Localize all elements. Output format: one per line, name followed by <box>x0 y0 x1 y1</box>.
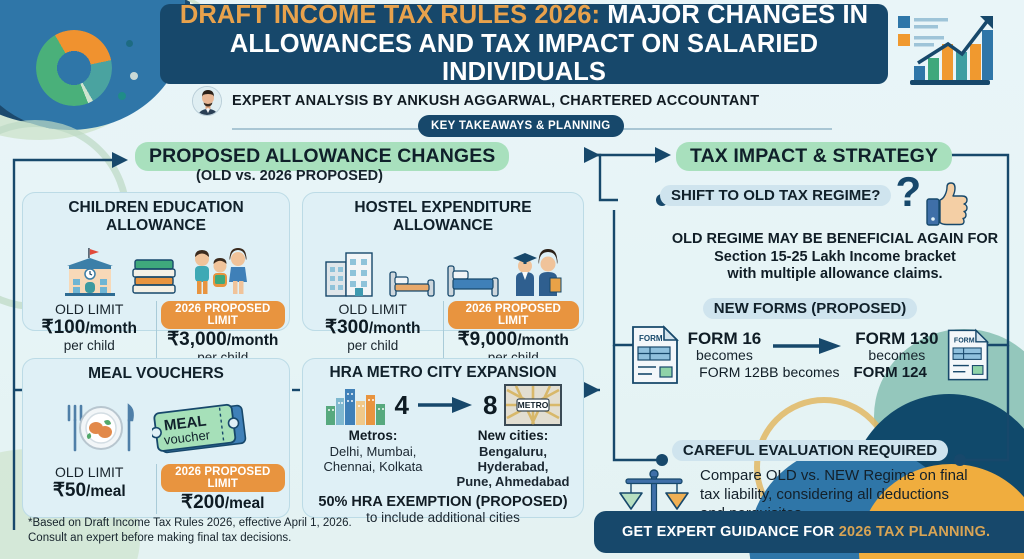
form-12bb-line: FORM 12BB becomes <box>699 364 839 381</box>
old-amount-unit: /month <box>85 320 137 337</box>
cta-prefix: GET EXPERT GUIDANCE FOR <box>622 524 839 540</box>
hra-old-metros: Metros: Delhi, Mumbai, Chennai, Kolkata <box>303 427 443 490</box>
footnote-line-1: *Based on Draft Income Tax Rules 2026, e… <box>28 516 352 532</box>
card-title: HOSTEL EXPENDITURE ALLOWANCE <box>303 193 583 235</box>
form-130-becomes: becomes <box>855 348 938 364</box>
form-new-col: FORM 130 becomes <box>855 329 938 364</box>
form-document-icon-left: FORM <box>630 325 680 385</box>
form-124-label: FORM 124 <box>853 364 926 381</box>
donut-chart-logo-icon <box>36 30 112 106</box>
meal-plate-icon <box>60 398 142 458</box>
old-limit-amount: ₹300/month <box>307 318 439 339</box>
form-12bb-label: FORM 12BB <box>699 364 778 380</box>
old-limit-amount: ₹50/meal <box>27 481 152 502</box>
page-title: DRAFT INCOME TAX RULES 2026: MAJOR CHANG… <box>174 1 874 87</box>
city-skyline-icon <box>324 384 388 426</box>
meal-voucher-icon: MEAL voucher <box>152 400 252 458</box>
decor-blob-blue-topleft <box>0 0 185 130</box>
page-title-highlight: DRAFT INCOME TAX RULES 2026: <box>180 1 600 29</box>
proposed-allowance-subtitle: (OLD vs. 2026 PROPOSED) <box>196 168 383 184</box>
double-bed-icon <box>446 260 500 298</box>
block-shift-to-old-tax-regime: SHIFT TO OLD TAX REGIME? ? OLD REGIME MA… <box>660 185 1010 284</box>
proposed-limit-badge: 2026 PROPOSED LIMIT <box>161 301 286 329</box>
hra-new-cities: Bengaluru, Hyderabad, Pune, Ahmedabad <box>443 445 583 490</box>
byline: EXPERT ANALYSIS BY ANKUSH AGGARWAL, CHAR… <box>192 86 832 116</box>
key-takeaways-pill: KEY TAKEAWAYS & PLANNING <box>418 115 624 137</box>
hra-new-label: New cities: <box>478 428 549 443</box>
shift-line-1: OLD REGIME MAY BE BENEFICIAL AGAIN FOR <box>660 231 1010 249</box>
hra-new-cities-block: New cities: Bengaluru, Hyderabad, Pune, … <box>443 427 583 490</box>
card-children-education-allowance: CHILDREN EDUCATION ALLOWANCE <box>22 192 290 331</box>
card-title: HRA METRO CITY EXPANSION <box>303 359 583 382</box>
form-doc-label: FORM <box>954 338 975 345</box>
cta-text: GET EXPERT GUIDANCE FOR 2026 TAX PLANNIN… <box>622 524 990 540</box>
hra-from-count: 4 <box>395 390 409 421</box>
decor-blob-mint-topleft <box>0 0 160 140</box>
metro-tag-label: METRO <box>518 400 549 410</box>
new-amount-value: ₹200 <box>181 492 225 513</box>
shift-header: SHIFT TO OLD TAX REGIME? <box>660 185 891 206</box>
new-limit-amount: ₹9,000/month <box>448 330 580 351</box>
tax-impact-section-header: TAX IMPACT & STRATEGY <box>676 142 952 171</box>
form-130-label: FORM 130 <box>855 329 938 348</box>
eval-header-row: CAREFUL EVALUATION REQUIRED <box>600 440 1020 461</box>
arrow-right-icon <box>771 336 845 356</box>
proposed-allowance-title: PROPOSED ALLOWANCE CHANGES <box>135 142 509 171</box>
form-12bb-becomes: becomes <box>783 364 840 380</box>
new-limit-amount: ₹200/meal <box>161 493 286 514</box>
card-limits: OLD LIMIT ₹50/meal 2026 PROPOSED LIMIT ₹… <box>23 464 289 514</box>
forms-content: FORM FORM 16 becomes <box>600 325 1020 385</box>
new-limit-block: 2026 PROPOSED LIMIT ₹200/meal <box>157 464 290 514</box>
new-forms-header: NEW FORMS (PROPOSED) <box>703 298 918 319</box>
page-title-bar: DRAFT INCOME TAX RULES 2026: MAJOR CHANG… <box>160 4 888 84</box>
form-old-col: FORM 16 becomes <box>688 329 762 364</box>
form-document-icon-right: FORM <box>946 328 990 382</box>
thumbs-up-icon <box>925 181 969 227</box>
growth-bar-chart-icon <box>892 6 1008 98</box>
question-mark-icon: ? <box>895 177 921 207</box>
new-limit-amount: ₹3,000/month <box>161 330 286 351</box>
form-16-label: FORM 16 <box>688 329 762 348</box>
old-amount-value: ₹50 <box>53 480 86 501</box>
shift-header-row: SHIFT TO OLD TAX REGIME? ? <box>660 185 1010 227</box>
form-doc-label: FORM <box>639 334 663 343</box>
old-amount-value: ₹100 <box>42 317 86 338</box>
card-icons: MEAL voucher <box>23 386 289 458</box>
proposed-limit-badge: 2026 PROPOSED LIMIT <box>161 464 286 492</box>
old-limit-label: OLD LIMIT <box>27 464 152 480</box>
single-bed-icon <box>388 264 436 298</box>
hra-old-label: Metros: <box>349 428 398 443</box>
new-amount-unit: /meal <box>225 495 265 512</box>
block-new-forms-proposed: NEW FORMS (PROPOSED) FORM FORM 16 become… <box>600 298 1020 385</box>
hra-to-count: 8 <box>483 390 497 421</box>
card-title: CHILDREN EDUCATION ALLOWANCE <box>23 193 289 235</box>
arrow-right-icon <box>416 394 476 416</box>
byline-text: EXPERT ANALYSIS BY ANKUSH AGGARWAL, CHAR… <box>232 93 759 109</box>
card-limits: OLD LIMIT ₹100/month per child 2026 PROP… <box>23 301 289 366</box>
new-limit-block: 2026 PROPOSED LIMIT ₹9,000/month per chi… <box>444 301 584 366</box>
footnote: *Based on Draft Income Tax Rules 2026, e… <box>28 516 352 547</box>
proposed-limit-badge: 2026 PROPOSED LIMIT <box>448 301 580 329</box>
old-limit-block: OLD LIMIT ₹300/month per child <box>303 301 444 366</box>
new-amount-value: ₹9,000 <box>458 329 518 350</box>
cta-highlight: 2026 TAX PLANNING. <box>839 524 991 540</box>
card-meal-vouchers: MEAL VOUCHERS <box>22 358 290 518</box>
infographic-root: DRAFT INCOME TAX RULES 2026: MAJOR CHANG… <box>0 0 1024 559</box>
careful-evaluation-header: CAREFUL EVALUATION REQUIRED <box>672 440 948 461</box>
decor-dot-1 <box>126 40 133 47</box>
hostel-building-icon <box>322 248 378 298</box>
old-limit-label: OLD LIMIT <box>307 301 439 317</box>
card-icons <box>23 238 289 298</box>
old-limit-block: OLD LIMIT ₹100/month per child <box>23 301 157 366</box>
hra-old-cities: Delhi, Mumbai, Chennai, Kolkata <box>303 445 443 475</box>
old-limit-sub: per child <box>307 339 439 354</box>
new-amount-unit: /month <box>227 332 279 349</box>
shift-line-3: with multiple allowance claims. <box>660 266 1010 284</box>
eval-line-2: tax liability, considering all deduction… <box>700 486 968 505</box>
decor-dot-3 <box>118 92 126 100</box>
shift-description: OLD REGIME MAY BE BENEFICIAL AGAIN FOR S… <box>660 231 1010 284</box>
hra-count-row: 4 8 METRO <box>303 384 583 426</box>
card-limits: OLD LIMIT ₹300/month per child 2026 PROP… <box>303 301 583 366</box>
school-building-icon <box>61 246 119 298</box>
old-amount-unit: /meal <box>86 483 126 500</box>
card-title: MEAL VOUCHERS <box>23 359 289 383</box>
cta-bar: GET EXPERT GUIDANCE FOR 2026 TAX PLANNIN… <box>594 511 1024 553</box>
hra-city-columns: Metros: Delhi, Mumbai, Chennai, Kolkata … <box>303 427 583 490</box>
forms-header-row: NEW FORMS (PROPOSED) <box>600 298 1020 319</box>
form-16-becomes: becomes <box>688 348 762 364</box>
hra-exemption-line: 50% HRA EXEMPTION (PROPOSED) <box>303 494 583 510</box>
footnote-line-2: Consult an expert before making final ta… <box>28 531 352 547</box>
card-icons <box>303 238 583 298</box>
old-amount-unit: /month <box>369 320 421 337</box>
tax-impact-title: TAX IMPACT & STRATEGY <box>676 142 952 171</box>
new-amount-value: ₹3,000 <box>167 329 227 350</box>
proposed-allowance-section-header: PROPOSED ALLOWANCE CHANGES <box>135 142 509 171</box>
children-group-icon <box>189 248 251 298</box>
new-amount-unit: /month <box>517 332 569 349</box>
decor-dot-2 <box>130 72 138 80</box>
analyst-avatar <box>192 86 222 116</box>
card-hra-metro-city-expansion: HRA METRO CITY EXPANSION 4 <box>302 358 584 518</box>
old-limit-label: OLD LIMIT <box>27 301 152 317</box>
graduates-icon <box>510 248 564 298</box>
old-amount-value: ₹300 <box>325 317 369 338</box>
forms-text-block: FORM 16 becomes FORM 130 becomes FORM 12… <box>688 329 939 382</box>
old-limit-sub: per child <box>27 339 152 354</box>
shift-line-2: Section 15-25 Lakh Income bracket <box>660 249 1010 267</box>
old-limit-block: OLD LIMIT ₹50/meal <box>23 464 157 514</box>
forms-row-2: FORM 12BB becomes FORM 124 <box>688 364 939 381</box>
new-limit-block: 2026 PROPOSED LIMIT ₹3,000/month per chi… <box>157 301 290 366</box>
metro-map-icon: METRO <box>504 384 562 426</box>
eval-line-1: Compare OLD vs. NEW Regime on final <box>700 467 968 486</box>
forms-row-1: FORM 16 becomes FORM 130 becomes <box>688 329 939 364</box>
card-hostel-expenditure-allowance: HOSTEL EXPENDITURE ALLOWANCE <box>302 192 584 331</box>
old-limit-amount: ₹100/month <box>27 318 152 339</box>
books-stack-icon <box>129 250 179 298</box>
